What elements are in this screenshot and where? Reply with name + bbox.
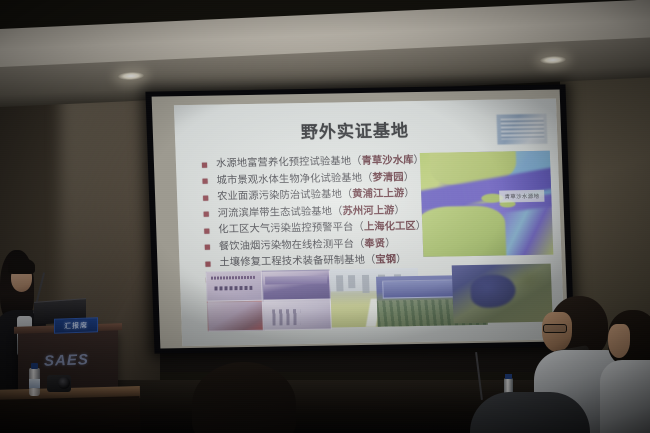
bottle-label xyxy=(29,379,40,388)
photo-equipment-red xyxy=(207,301,264,332)
photo-sign-board xyxy=(206,271,263,302)
sign-header-line xyxy=(211,276,255,280)
camera-body xyxy=(47,375,71,392)
lab-equipment-shapes xyxy=(272,309,301,325)
aerial-water-body xyxy=(470,275,517,308)
podium-name-sign: 汇报席 xyxy=(54,317,98,334)
audience-member-foreground-right xyxy=(470,392,590,433)
slide-title: 野外实证基地 xyxy=(174,114,535,145)
audience-face xyxy=(608,324,630,358)
skyline-building xyxy=(348,275,355,288)
presentation-slide: 野外实证基地 水源地富营养化预控试验基地（青草沙水库） 城市景观水体生物净化试验… xyxy=(174,99,564,347)
building-roof xyxy=(265,276,327,285)
projection-screen-mat: 野外实证基地 水源地富营养化预控试验基地（青草沙水库） 城市景观水体生物净化试验… xyxy=(152,90,569,349)
podium-sign-text: 汇报席 xyxy=(64,320,88,331)
skyline-building xyxy=(362,275,370,293)
audience-head xyxy=(192,362,296,433)
bullet-square-icon xyxy=(202,162,207,167)
camera-lens xyxy=(58,377,70,389)
bottle-cap xyxy=(505,374,512,379)
podium-logo: SAES xyxy=(44,351,100,375)
audience-member-right xyxy=(608,310,650,433)
water-bottle xyxy=(29,368,40,396)
presenter-hair-front xyxy=(8,258,35,274)
audience-member-foreground xyxy=(178,362,318,433)
bullet-square-icon xyxy=(205,245,210,250)
logo-building-bars xyxy=(501,118,545,140)
photo-facility-building xyxy=(262,270,331,301)
foreground-table-front xyxy=(0,396,140,433)
satellite-map-image: 青草沙水源地 xyxy=(420,151,554,257)
bullet-square-icon xyxy=(202,179,207,184)
slide-photo-strip xyxy=(206,266,553,330)
bullet-square-icon xyxy=(205,261,210,266)
bullet-square-icon xyxy=(204,212,209,217)
bullet-square-icon xyxy=(203,195,208,200)
bullet-square-icon xyxy=(204,228,209,233)
sign-body-line xyxy=(214,286,252,291)
audience-shirt xyxy=(600,360,650,433)
map-land-south xyxy=(420,206,507,257)
photo-scene: 野外实证基地 水源地富营养化预控试验基地（青草沙水库） 城市景观水体生物净化试验… xyxy=(0,0,650,433)
aerial-tree-canopy xyxy=(511,266,548,296)
skyline-building xyxy=(336,275,344,291)
institute-building-logo xyxy=(496,114,547,145)
projection-screen-frame: 野外实证基地 水源地富营养化预控试验基地（青草沙水库） 城市景观水体生物净化试验… xyxy=(145,84,574,353)
eyeglasses-icon xyxy=(543,324,567,333)
photo-aerial-vegetation xyxy=(452,264,553,324)
map-label: 青草沙水源地 xyxy=(499,190,544,203)
photo-lab-equipment xyxy=(263,300,332,331)
bottle-cap xyxy=(31,363,38,369)
